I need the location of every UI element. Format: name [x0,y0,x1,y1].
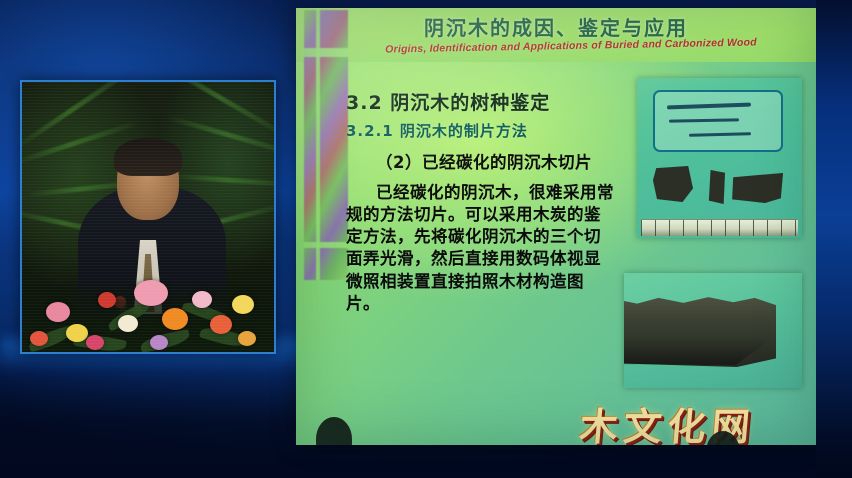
flower-bloom [66,324,88,342]
wood-sample-3 [730,173,783,203]
audience-head-silhouette [316,417,352,445]
slide-section-heading: 3.2 阴沉木的树种鉴定 [346,88,616,115]
measuring-ruler [641,219,798,236]
wood-sample-1 [653,166,693,202]
flower-bloom [150,335,168,350]
flower-arrangement [22,280,274,352]
slide-sub-heading: 3.2.1 阴沉木的制片方法 [346,120,616,141]
flower-bloom [162,308,188,330]
flower-bloom [238,331,256,346]
projection-screen: 阴沉木的成因、鉴定与应用 Origins, Identification and… [296,8,816,445]
ribbon-gap-lower [304,242,348,248]
lily-bloom [134,280,168,306]
handwriting-line-3 [689,132,751,136]
slide-text-column: 3.2 阴沉木的树种鉴定 3.2.1 阴沉木的制片方法 （2）已经碳化的阴沉木切… [346,88,616,323]
flower-bloom [46,302,70,322]
flower-bloom [192,291,212,308]
slide-decorative-ribbon [304,10,348,280]
ruler-ticks [641,220,798,236]
flower-bloom [210,315,232,334]
broadcast-stage: 阴沉木的成因、鉴定与应用 Origins, Identification and… [0,0,852,478]
handwritten-label-card [653,90,783,152]
flower-bloom [86,335,104,350]
wood-sample-2 [708,170,725,204]
right-dark-margin [816,0,852,478]
handwriting-line-2 [669,118,739,122]
slide-paragraph-1: （2）已经碳化的阴沉木切片 [346,152,616,174]
slide-title-band: 阴沉木的成因、鉴定与应用 Origins, Identification and… [296,8,816,62]
carbonized-wood-block-photo [624,273,802,388]
speaker-hair [114,138,182,176]
speaker-camera-feed[interactable] [20,80,276,354]
handwriting-line-1 [667,103,751,110]
slide-paragraph-2: 已经碳化的阴沉木，很难采用常规的方法切片。可以采用木炭的鉴定方法，先将碳化阴沉木… [346,182,616,315]
flower-bloom [98,292,116,308]
carbonized-wood-samples-photo [637,78,802,238]
flower-bloom [30,331,48,346]
flower-bloom [118,315,138,332]
ribbon-gap-upper [304,48,348,57]
flower-bloom [232,295,254,314]
